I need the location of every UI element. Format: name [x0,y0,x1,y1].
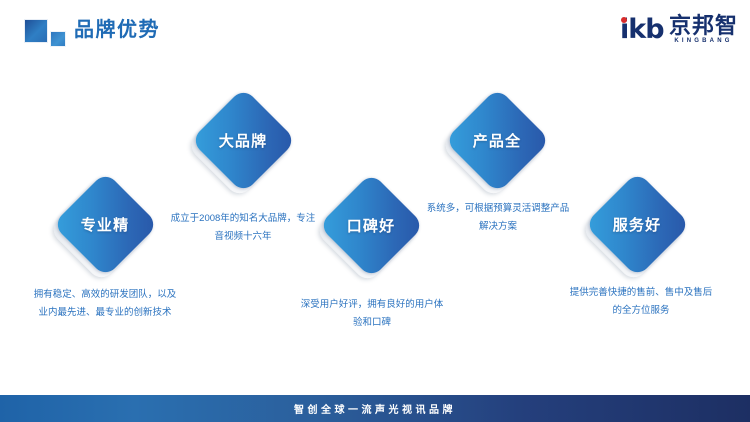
feature-caption-3: 深受用户好评，拥有良好的用户体验和口碑 [299,296,445,332]
feature-diamond-5[interactable]: 服务好 [584,171,690,277]
feature-caption-2: 成立于2008年的知名大品牌，专注音视频十六年 [169,210,317,246]
feature-caption-1: 拥有稳定、高效的研发团队，以及业内最先进、最专业的创新技术 [30,286,180,322]
feature-diamond-2[interactable]: 大品牌 [190,87,296,193]
header-square-small-icon [50,31,66,47]
feature-diamond-3[interactable]: 口碑好 [318,172,424,278]
slide-footer: 智创全球一流声光视讯品牌 [0,395,750,422]
feature-caption-4: 系统多，可根据预算灵活调整产品解决方案 [426,200,570,236]
slide-header: 品牌优势 ikb 京邦智 KINGBANG [0,0,750,60]
feature-diamond-4[interactable]: 产品全 [444,87,550,193]
header-square-large-icon [24,19,48,43]
feature-caption-5: 提供完善快捷的售前、售中及售后的全方位服务 [566,284,716,320]
logo-dot-icon [621,17,627,23]
diamond-label-5: 服务好 [584,171,690,277]
logo-mark-icon: ikb [620,16,666,46]
logo-name-cn: 京邦智 [669,14,738,38]
diamond-label-1: 专业精 [52,171,158,277]
logo-wordmark: 京邦智 KINGBANG [669,14,738,46]
diamond-label-2: 大品牌 [190,87,296,193]
footer-tagline: 智创全球一流声光视讯品牌 [294,401,456,416]
diamond-label-4: 产品全 [444,87,550,193]
brand-logo: ikb 京邦智 KINGBANG [620,14,738,46]
slide-canvas: 品牌优势 ikb 京邦智 KINGBANG 专业精 拥有稳定、高效的研发团队，以… [0,0,750,422]
logo-name-en: KINGBANG [674,37,732,46]
diamond-label-3: 口碑好 [318,172,424,278]
page-title: 品牌优势 [74,17,160,43]
feature-diamond-1[interactable]: 专业精 [52,171,158,277]
